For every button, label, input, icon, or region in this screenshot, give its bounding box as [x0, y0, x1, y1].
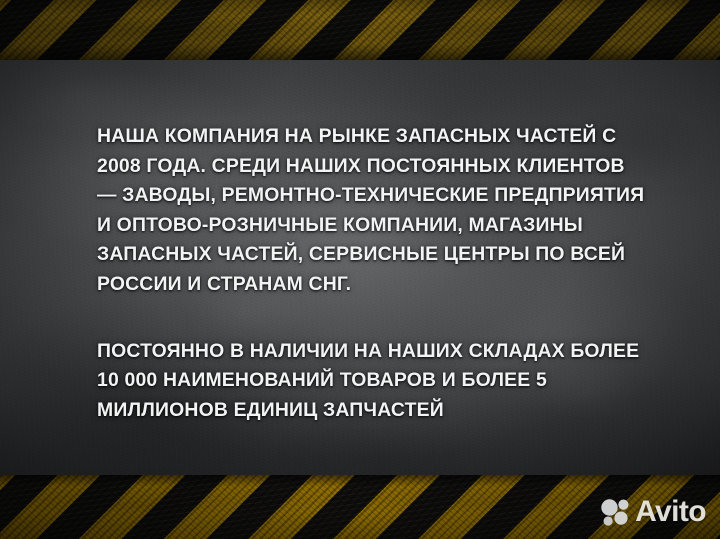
avito-dots-icon [600, 498, 630, 526]
company-description-paragraph: НАША КОМПАНИЯ НА РЫНКЕ ЗАПАСНЫХ ЧАСТЕЙ С… [97, 122, 645, 300]
avito-watermark: Avito [600, 497, 706, 527]
avito-wordmark: Avito [635, 497, 706, 527]
banner-copy-block: НАША КОМПАНИЯ НА РЫНКЕ ЗАПАСНЫХ ЧАСТЕЙ С… [97, 122, 645, 425]
hazard-shade-top [0, 0, 720, 60]
hazard-stripe-band-top [0, 0, 720, 60]
stock-availability-paragraph: ПОСТОЯННО В НАЛИЧИИ НА НАШИХ СКЛАДАХ БОЛ… [97, 337, 645, 426]
avito-listing-banner: НАША КОМПАНИЯ НА РЫНКЕ ЗАПАСНЫХ ЧАСТЕЙ С… [0, 0, 720, 539]
